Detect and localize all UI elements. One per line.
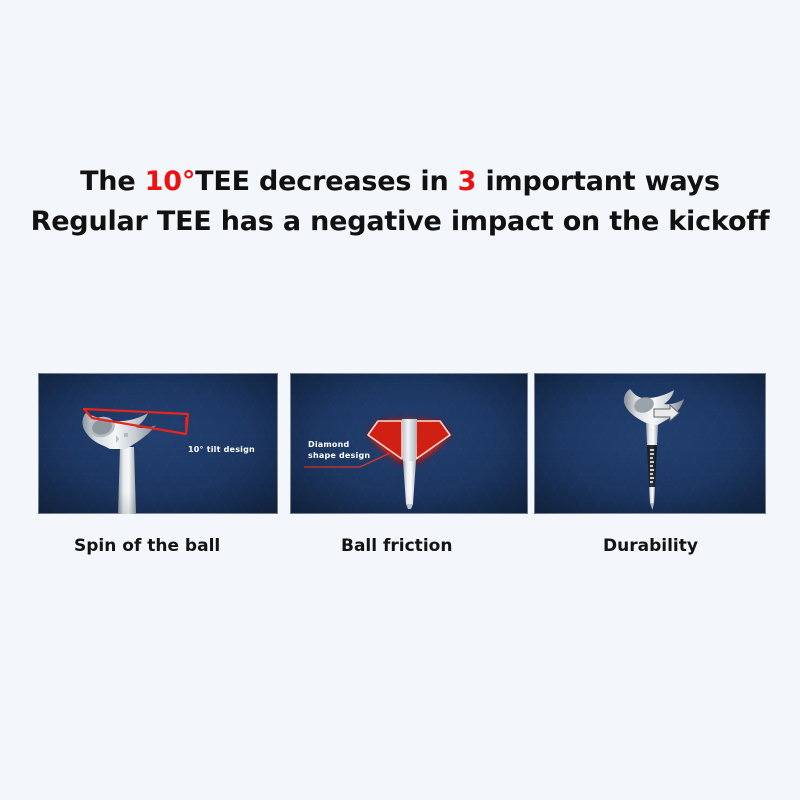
headline-text-important-ways: important ways bbox=[476, 166, 720, 197]
annotation-diamond-line-1: Diamond bbox=[308, 439, 370, 450]
annotation-tilt-design: 10° tilt design bbox=[188, 444, 255, 455]
feature-panel-spin-of-the-ball[interactable]: 10° tilt design bbox=[38, 373, 278, 514]
feature-panel-ball-friction[interactable]: Diamond shape design bbox=[290, 373, 528, 514]
headline-line-2: Regular TEE has a negative impact on the… bbox=[0, 202, 800, 242]
caption-spin-of-the-ball: Spin of the ball bbox=[74, 536, 220, 556]
feature-panels-row: 10° tilt design bbox=[38, 373, 766, 514]
golf-tee-full-illustration bbox=[534, 373, 766, 514]
headline-line-1: The 10°TEE decreases in 3 important ways bbox=[0, 162, 800, 202]
caption-durability: Durability bbox=[603, 536, 698, 556]
headline-accent-degrees: 10° bbox=[145, 166, 195, 197]
headline-text-the: The bbox=[80, 166, 145, 197]
panel-captions-row: Spin of the ball Ball friction Durabilit… bbox=[0, 536, 800, 566]
feature-panel-durability[interactable] bbox=[534, 373, 766, 514]
annotation-diamond-line-2: shape design bbox=[308, 450, 370, 461]
caption-ball-friction: Ball friction bbox=[341, 536, 452, 556]
page-title: The 10°TEE decreases in 3 important ways… bbox=[0, 162, 800, 242]
headline-accent-three: 3 bbox=[458, 166, 477, 197]
headline-text-tee-decreases: TEE decreases in bbox=[195, 166, 458, 197]
annotation-diamond-design: Diamond shape design bbox=[308, 439, 370, 461]
